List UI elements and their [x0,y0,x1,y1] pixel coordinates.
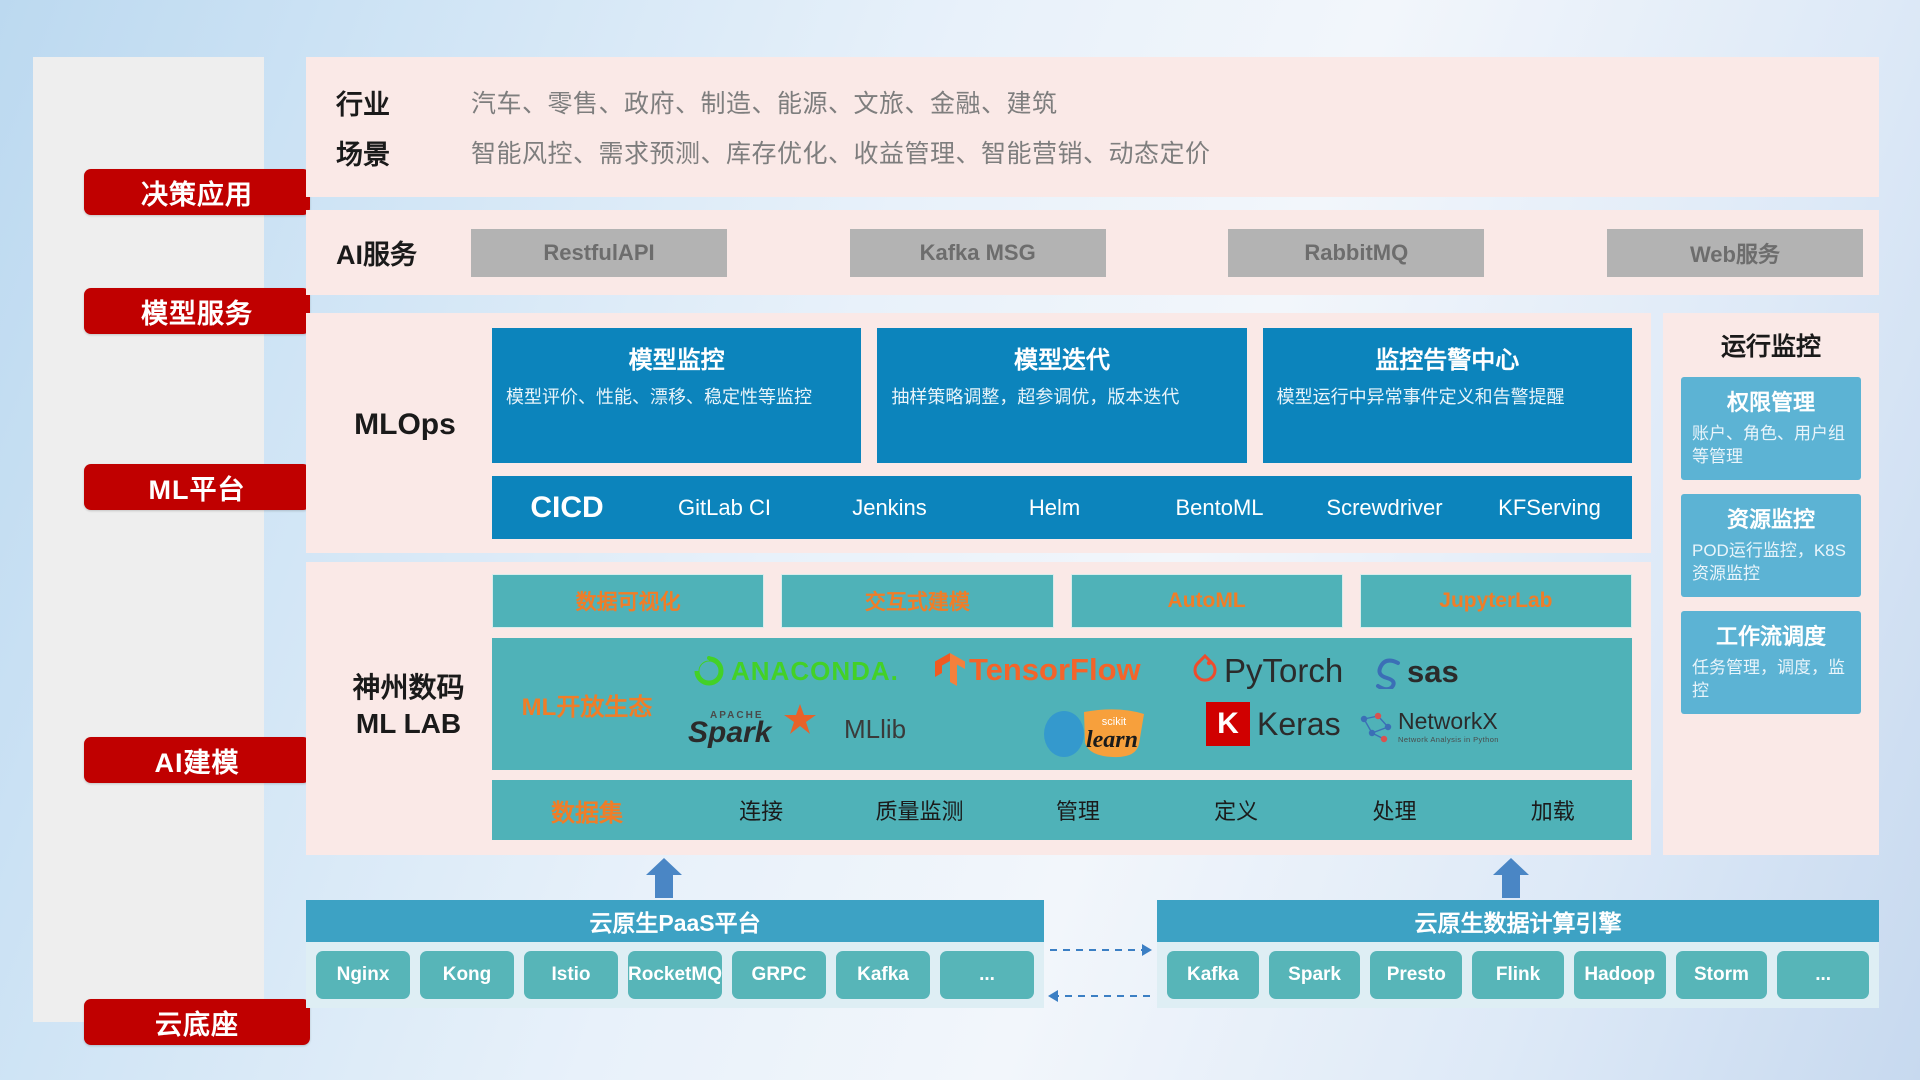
industry-key: 行业 [336,83,471,122]
cloud-native-data-engine-group: 云原生数据计算引擎 Kafka Spark Presto Flink Hadoo… [1157,900,1879,1008]
ai-service-pill-restfulapi[interactable]: RestfulAPI [471,229,727,277]
mlops-card-model-monitoring[interactable]: 模型监控 模型评价、性能、漂移、稳定性等监控 [492,328,861,463]
ai-service-key: AI服务 [336,233,471,272]
dataset-item-process[interactable]: 处理 [1315,794,1473,826]
layer-chip-label: ML平台 [149,468,246,507]
ml-open-ecosystem-row: ML开放生态 ANACONDA. [492,638,1632,770]
cloud-native-paas-title: 云原生PaaS平台 [306,900,1044,942]
cloud-native-paas-items: Nginx Kong Istio RocketMQ GRPC Kafka ... [306,942,1044,1008]
ml-lab-tools-row: 数据可视化 交互式建模 AutoML JupyterLab [492,574,1632,628]
scenario-key: 场景 [336,133,471,172]
monitor-card-workflow[interactable]: 工作流调度 任务管理，调度，监控 [1681,611,1861,714]
mlops-key: MLOps [330,408,480,442]
pytorch-wordmark: PyTorch [1224,652,1343,690]
engine-pill-presto[interactable]: Presto [1370,951,1462,999]
ml-open-ecosystem-label: ML开放生态 [492,687,682,722]
networkx-tagline: Network Analysis in Python [1398,736,1499,744]
layer-chip-label: 模型服务 [141,292,253,331]
dataset-item-manage[interactable]: 管理 [999,794,1157,826]
cicd-item-bentoml[interactable]: BentoML [1137,494,1302,522]
cloud-native-paas-group: 云原生PaaS平台 Nginx Kong Istio RocketMQ GRPC… [306,900,1044,1008]
mlops-card-model-iteration[interactable]: 模型迭代 抽样策略调整，超参调优，版本迭代 [877,328,1246,463]
paas-pill-kafka[interactable]: Kafka [836,951,930,999]
up-arrow-paas-icon [644,858,684,898]
tensorflow-wordmark: TensorFlow [969,652,1141,688]
tool-pill-jupyterlab[interactable]: JupyterLab [1360,574,1632,628]
mlops-card-title: 监控告警中心 [1277,340,1618,375]
paas-pill-kong[interactable]: Kong [420,951,514,999]
spark-wordmark: Spark [688,716,771,750]
layer-label-column: 决策应用 模型服务 ML平台 AI建模 云底座 [33,57,264,1022]
mlops-card-list: 模型监控 模型评价、性能、漂移、稳定性等监控 模型迭代 抽样策略调整，超参调优，… [492,328,1632,463]
ml-lab-key: 神州数码 ML LAB [326,670,491,743]
tool-pill-automl[interactable]: AutoML [1071,574,1343,628]
layer-chip-label: AI建模 [155,741,240,780]
scikit-learn-logo: scikit learn [1040,706,1158,758]
spark-star-icon [780,702,820,736]
scikit-learn-mark-icon: scikit learn [1040,706,1158,758]
dataset-item-connect[interactable]: 连接 [682,794,840,826]
cicd-item-gitlab-ci[interactable]: GitLab CI [642,494,807,522]
keras-k-letter: K [1217,707,1239,741]
mlops-card-desc: 模型评价、性能、漂移、稳定性等监控 [506,385,847,409]
monitor-card-permission[interactable]: 权限管理 账户、角色、用户组等管理 [1681,377,1861,480]
ai-service-pill-kafka-msg[interactable]: Kafka MSG [850,229,1106,277]
architecture-diagram: 决策应用 模型服务 ML平台 AI建模 云底座 行业 汽车、零售、政府、制造、能… [0,0,1920,1080]
engine-pill-spark[interactable]: Spark [1269,951,1361,999]
layer-chip-label: 云底座 [155,1003,239,1042]
paas-pill-istio[interactable]: Istio [524,951,618,999]
engine-pill-flink[interactable]: Flink [1472,951,1564,999]
ecosystem-logo-area: ANACONDA. APACHE Spark MLlib [682,638,1632,770]
ai-service-pill-rabbitmq[interactable]: RabbitMQ [1228,229,1484,277]
dataset-item-define[interactable]: 定义 [1157,794,1315,826]
dataset-item-load[interactable]: 加载 [1474,794,1632,826]
keras-wordmark: Keras [1257,706,1341,743]
cicd-item-jenkins[interactable]: Jenkins [807,494,972,522]
mlops-card-title: 模型迭代 [891,340,1232,375]
paas-pill-nginx[interactable]: Nginx [316,951,410,999]
mlops-card-alert-center[interactable]: 监控告警中心 模型运行中异常事件定义和告警提醒 [1263,328,1632,463]
dataset-row: 数据集 连接 质量监测 管理 定义 处理 加载 [492,780,1632,840]
ai-service-pill-web-service[interactable]: Web服务 [1607,229,1863,277]
mlops-band: MLOps 模型监控 模型评价、性能、漂移、稳定性等监控 模型迭代 抽样策略调整… [306,313,1651,553]
industry-row: 行业 汽车、零售、政府、制造、能源、文旅、金融、建筑 [336,77,1879,127]
runtime-monitoring-title: 运行监控 [1663,313,1879,363]
paas-pill-grpc[interactable]: GRPC [732,951,826,999]
ml-lab-key-line1: 神州数码 [326,670,491,706]
layer-chip-decision-app[interactable]: 决策应用 [84,169,310,215]
engine-pill-hadoop[interactable]: Hadoop [1574,951,1666,999]
paas-pill-more[interactable]: ... [940,951,1034,999]
keras-mark-icon: K [1206,702,1250,746]
mlops-card-title: 模型监控 [506,340,847,375]
svg-text:learn: learn [1086,727,1138,753]
layer-chip-ml-platform[interactable]: ML平台 [84,464,310,510]
sas-wordmark: sas [1407,654,1459,690]
pytorch-flame-icon [1190,653,1220,689]
pytorch-logo: PyTorch [1190,652,1343,690]
monitor-card-desc: 账户、角色、用户组等管理 [1692,423,1850,469]
sas-logo: sas [1372,654,1459,690]
mlops-card-desc: 抽样策略调整，超参调优，版本迭代 [891,385,1232,409]
scenario-value: 智能风控、需求预测、库存优化、收益管理、智能营销、动态定价 [471,134,1211,170]
engine-pill-storm[interactable]: Storm [1676,951,1768,999]
runtime-monitoring-panel: 运行监控 权限管理 账户、角色、用户组等管理 资源监控 POD运行监控，K8S资… [1663,313,1879,855]
bidirectional-dashed-link-icon [1046,938,1154,1012]
tensorflow-mark-icon [934,652,966,688]
layer-chip-label: 决策应用 [141,173,253,212]
mllib-wordmark: MLlib [844,714,906,745]
anaconda-wordmark: ANACONDA. [731,656,899,687]
monitor-card-title: 工作流调度 [1692,619,1850,651]
networkx-wordmark: NetworkX [1398,710,1499,733]
tool-pill-data-visualization[interactable]: 数据可视化 [492,574,764,628]
ai-service-items: RestfulAPI Kafka MSG RabbitMQ Web服务 [471,229,1879,277]
tensorflow-logo: TensorFlow [934,652,1141,688]
tool-pill-interactive-modeling[interactable]: 交互式建模 [781,574,1053,628]
engine-pill-more[interactable]: ... [1777,951,1869,999]
cicd-title: CICD [492,491,642,525]
monitor-card-desc: 任务管理，调度，监控 [1692,657,1850,703]
industry-scenario-band: 行业 汽车、零售、政府、制造、能源、文旅、金融、建筑 场景 智能风控、需求预测、… [306,57,1879,197]
monitor-card-resource[interactable]: 资源监控 POD运行监控，K8S资源监控 [1681,494,1861,597]
cloud-native-data-engine-items: Kafka Spark Presto Flink Hadoop Storm ..… [1157,942,1879,1008]
keras-logo: K Keras [1206,702,1341,746]
paas-pill-rocketmq[interactable]: RocketMQ [628,951,722,999]
cicd-item-helm[interactable]: Helm [972,494,1137,522]
spark-mllib-logo: APACHE Spark MLlib [688,706,906,752]
sas-mark-icon [1372,655,1406,689]
layer-chip-model-service[interactable]: 模型服务 [84,288,310,334]
networkx-graph-icon [1358,711,1394,743]
cloud-native-data-engine-title: 云原生数据计算引擎 [1157,900,1879,942]
industry-value: 汽车、零售、政府、制造、能源、文旅、金融、建筑 [471,84,1058,120]
layer-chip-ai-modeling[interactable]: AI建模 [84,737,310,783]
mlops-card-desc: 模型运行中异常事件定义和告警提醒 [1277,385,1618,409]
engine-pill-kafka[interactable]: Kafka [1167,951,1259,999]
monitor-card-title: 权限管理 [1692,385,1850,417]
anaconda-mark-icon [692,654,726,688]
cicd-item-screwdriver[interactable]: Screwdriver [1302,494,1467,522]
anaconda-logo: ANACONDA. [692,654,899,688]
ai-service-band: AI服务 RestfulAPI Kafka MSG RabbitMQ Web服务 [306,210,1879,295]
cicd-bar: CICD GitLab CI Jenkins Helm BentoML Scre… [492,476,1632,539]
up-arrow-data-engine-icon [1491,858,1531,898]
ml-lab-key-line2: ML LAB [326,706,491,742]
scenario-row: 场景 智能风控、需求预测、库存优化、收益管理、智能营销、动态定价 [336,127,1879,177]
monitor-card-title: 资源监控 [1692,502,1850,534]
dataset-label: 数据集 [492,793,682,828]
networkx-logo: NetworkX Network Analysis in Python [1358,710,1499,744]
cicd-item-kfserving[interactable]: KFServing [1467,494,1632,522]
layer-chip-cloud-base[interactable]: 云底座 [84,999,310,1045]
dataset-item-quality-monitoring[interactable]: 质量监测 [840,794,998,826]
ml-lab-band: 神州数码 ML LAB 数据可视化 交互式建模 AutoML JupyterLa… [306,562,1651,855]
monitor-card-desc: POD运行监控，K8S资源监控 [1692,540,1850,586]
